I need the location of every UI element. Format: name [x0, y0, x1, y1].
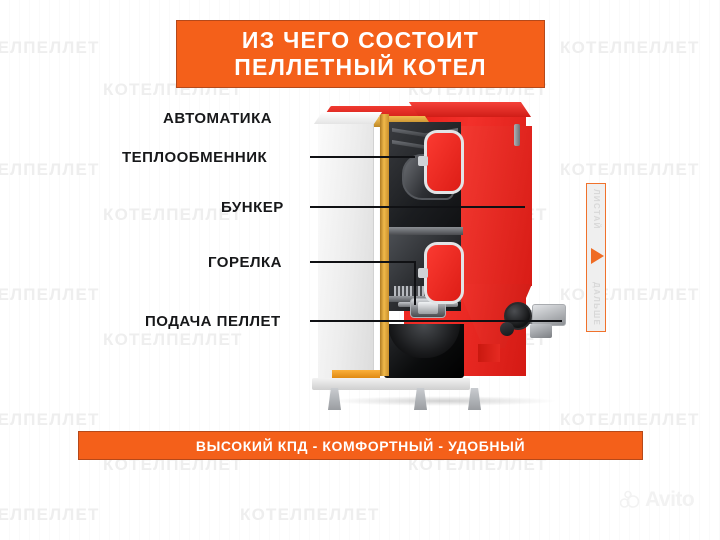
feed-motor-housing: [532, 304, 566, 326]
upper-access-door: [424, 130, 464, 194]
footer-text: ВЫСОКИЙ КПД - КОМФОРТНЫЙ - УДОБНЫЙ: [196, 438, 525, 454]
boiler-leg: [328, 388, 341, 410]
flue-pipe: [514, 124, 520, 146]
watermark-text: КОТЕЛПЕЛЛЕТ: [560, 38, 700, 58]
heat-exchanger-floor: [389, 227, 463, 235]
lower-access-door: [424, 242, 464, 304]
callout-label-teploobmennik: ТЕПЛООБМЕННИК: [122, 149, 267, 166]
door-hinge: [418, 268, 428, 278]
watermark-text: КОТЕЛПЕЛЛЕТ: [0, 505, 100, 525]
boiler-lid-right: [409, 102, 531, 117]
footer-banner: ВЫСОКИЙ КПД - КОМФОРТНЫЙ - УДОБНЫЙ: [78, 431, 643, 460]
avito-logo-icon: [620, 490, 642, 510]
orange-accent-bar: [332, 370, 380, 378]
boiler-leg: [414, 388, 427, 410]
header-title-line1: ИЗ ЧЕГО СОСТОИТ: [242, 27, 479, 54]
watermark-text: КОТЕЛПЕЛЛЕТ: [103, 330, 243, 350]
watermark-text: КОТЕЛПЕЛЛЕТ: [0, 38, 100, 58]
callout-label-avtomatika: АВТОМАТИКА: [163, 110, 272, 127]
hopper-neck: [478, 344, 500, 362]
callout-label-bunker: БУНКЕР: [221, 199, 284, 216]
insulation-layer: [380, 114, 389, 376]
front-casing-top: [314, 112, 382, 124]
floor-shadow: [328, 396, 558, 406]
watermark-text: КОТЕЛПЕЛЛЕТ: [0, 410, 100, 430]
avito-watermark: Avito: [620, 488, 694, 512]
leader-line-bunker: [310, 206, 525, 208]
watermark-text: КОТЕЛПЕЛЛЕТ: [240, 505, 380, 525]
leader-line-podacha-pellet: [310, 320, 562, 322]
pellet-boiler-illustration: [318, 96, 588, 416]
front-casing-panel: [318, 120, 374, 380]
play-triangle-icon: [591, 248, 604, 264]
leader-line-gorelka: [310, 261, 416, 263]
watermark-text: КОТЕЛПЕЛЛЕТ: [0, 285, 100, 305]
feed-motor-cap: [500, 322, 514, 336]
callout-label-podacha-pellet: ПОДАЧА ПЕЛЛЕТ: [145, 313, 281, 330]
boiler-leg: [468, 388, 481, 410]
scroll-hint-top-text: ЛИСТАЙ: [591, 189, 601, 230]
header-banner: ИЗ ЧЕГО СОСТОИТ ПЕЛЛЕТНЫЙ КОТЕЛ: [176, 20, 545, 88]
leader-line-teploobmennik: [310, 156, 415, 158]
scroll-hint-bottom-text: ДАЛЬШЕ: [591, 282, 601, 326]
avito-wordmark: Avito: [645, 488, 694, 512]
scroll-hint-strip[interactable]: ЛИСТАЙ ДАЛЬШЕ: [586, 183, 606, 332]
header-title-line2: ПЕЛЛЕТНЫЙ КОТЕЛ: [234, 54, 487, 81]
feed-motor-gearbox: [530, 324, 552, 338]
watermark-text: КОТЕЛПЕЛЛЕТ: [0, 160, 100, 180]
callout-label-gorelka: ГОРЕЛКА: [208, 254, 282, 271]
leader-line-gorelka-drop: [414, 261, 416, 305]
door-hinge: [418, 156, 428, 166]
